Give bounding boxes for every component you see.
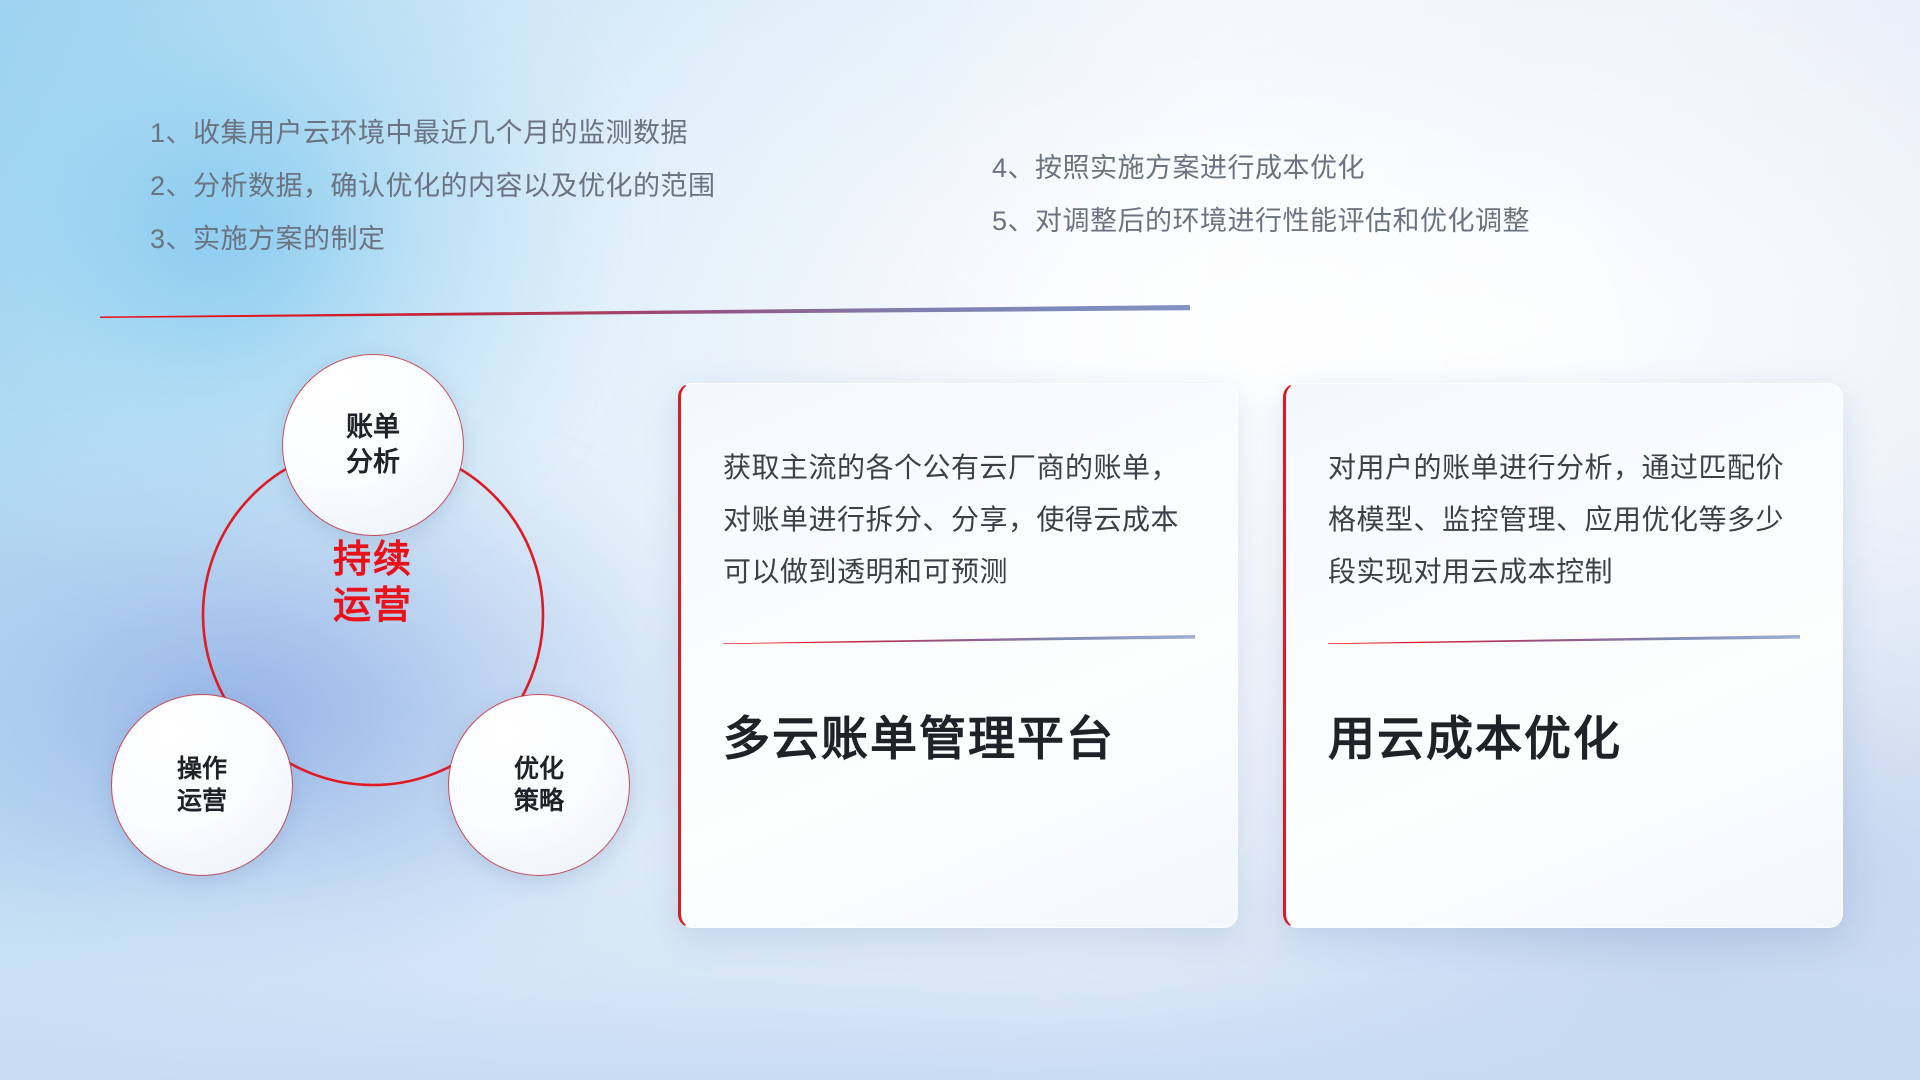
feature-card-body: 获取主流的各个公有云厂商的账单，对账单进行拆分、分享，使得云成本可以做到透明和可… (723, 442, 1195, 597)
diagram-center-label-line2: 运营 (278, 583, 468, 629)
diagram-bubble-operations[interactable]: 操作 运营 (112, 695, 292, 875)
slide-canvas: 1、收集用户云环境中最近几个月的监测数据 2、分析数据，确认优化的内容以及优化的… (0, 0, 1920, 1080)
section-divider-rule (100, 305, 1190, 318)
feature-card-body: 对用户的账单进行分析，通过匹配价格模型、监控管理、应用优化等多少段实现对用云成本… (1328, 442, 1800, 597)
step-item: 1、收集用户云环境中最近几个月的监测数据 (150, 120, 716, 147)
diagram-bubble-label-line1: 优化 (514, 753, 564, 785)
diagram-bubble-label-line2: 策略 (514, 785, 564, 817)
steps-list-left: 1、收集用户云环境中最近几个月的监测数据 2、分析数据，确认优化的内容以及优化的… (150, 120, 716, 253)
step-item: 4、按照实施方案进行成本优化 (992, 155, 1530, 182)
diagram-bubble-label-line1: 账单 (346, 410, 400, 445)
feature-card-title: 多云账单管理平台 (723, 700, 1195, 769)
cycle-diagram: 账单 分析 操作 运营 优化 策略 持续 运营 (92, 345, 632, 935)
feature-card-divider (1328, 635, 1800, 644)
diagram-center-label: 持续 运营 (278, 537, 468, 630)
diagram-bubble-bill-analysis[interactable]: 账单 分析 (283, 355, 463, 535)
diagram-bubble-label-line1: 操作 (177, 753, 227, 785)
steps-list-right: 4、按照实施方案进行成本优化 5、对调整后的环境进行性能评估和优化调整 (992, 155, 1530, 235)
diagram-center-label-line1: 持续 (278, 537, 468, 583)
step-item: 5、对调整后的环境进行性能评估和优化调整 (992, 208, 1530, 235)
feature-card-title: 用云成本优化 (1328, 700, 1800, 769)
diagram-bubble-optimization-strategy[interactable]: 优化 策略 (449, 695, 629, 875)
step-item: 2、分析数据，确认优化的内容以及优化的范围 (150, 173, 716, 200)
diagram-bubble-label-line2: 运营 (177, 785, 227, 817)
diagram-bubble-label-line2: 分析 (346, 445, 400, 480)
step-item: 3、实施方案的制定 (150, 226, 716, 253)
feature-card-divider (723, 635, 1195, 644)
feature-card-multicloud-billing[interactable]: 获取主流的各个公有云厂商的账单，对账单进行拆分、分享，使得云成本可以做到透明和可… (678, 383, 1238, 928)
feature-card-cost-optimization[interactable]: 对用户的账单进行分析，通过匹配价格模型、监控管理、应用优化等多少段实现对用云成本… (1283, 383, 1843, 928)
